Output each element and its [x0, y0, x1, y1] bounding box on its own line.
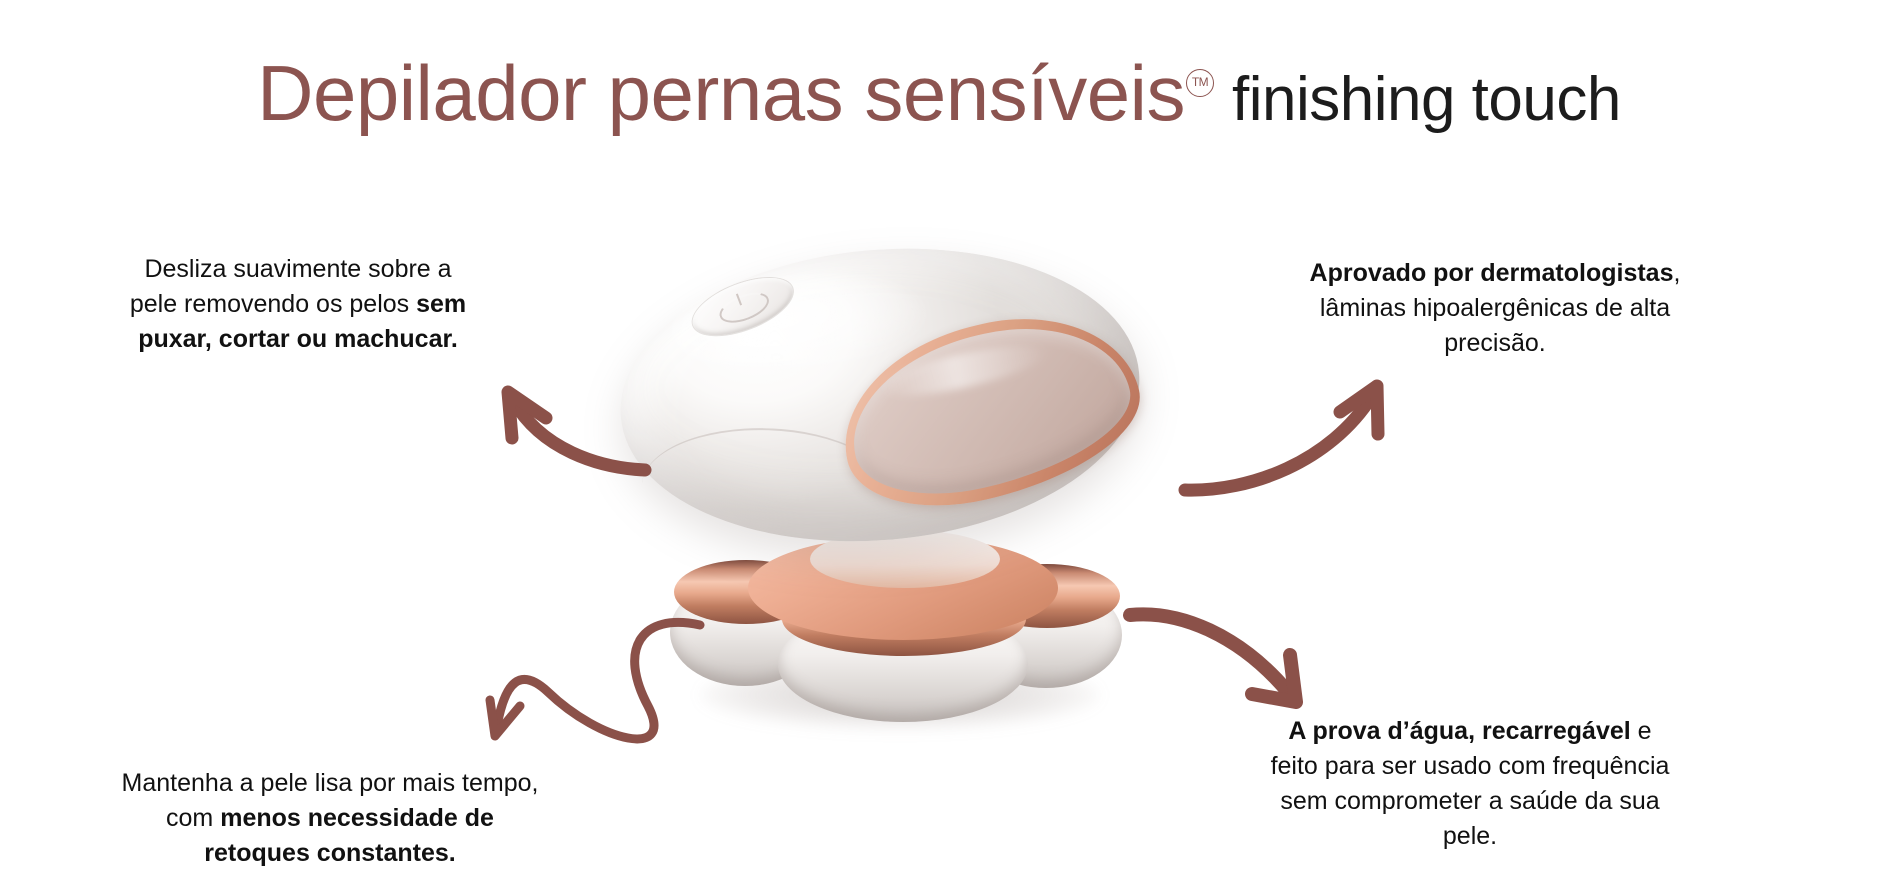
hair-removal-device: [620, 250, 1260, 780]
long-lasting-smoothness-callout: Mantenha a pele lisa por mais tempo, com…: [110, 766, 550, 871]
product-name: Depilador pernas sensíveis: [257, 49, 1185, 137]
trademark-icon: TM: [1186, 69, 1214, 97]
dermatologist-approved-callout: Aprovado por dermatologistas, lâminas hi…: [1285, 256, 1705, 361]
blade-panel-glint: [877, 335, 1050, 406]
flower-shaped-charging-stand: [670, 530, 1130, 730]
page-title: Depilador pernas sensíveisTMfinishing to…: [0, 48, 1878, 139]
device-body: [608, 228, 1151, 562]
emphasis-text: A prova d’água, recarregável: [1288, 717, 1630, 745]
body-text: Desliza suavimente sobre a pele removend…: [130, 255, 452, 318]
emphasis-text: Aprovado por dermatologistas: [1310, 259, 1674, 287]
brand-name: finishing touch: [1232, 65, 1621, 134]
waterproof-rechargeable-callout: A prova d’água, recarregável e feito par…: [1270, 714, 1670, 854]
infographic-canvas: Depilador pernas sensíveisTMfinishing to…: [0, 0, 1878, 893]
emphasis-text: menos necessidade de retoques constantes…: [204, 804, 494, 867]
glides-gently-callout: Desliza suavimente sobre a pele removend…: [118, 252, 478, 357]
